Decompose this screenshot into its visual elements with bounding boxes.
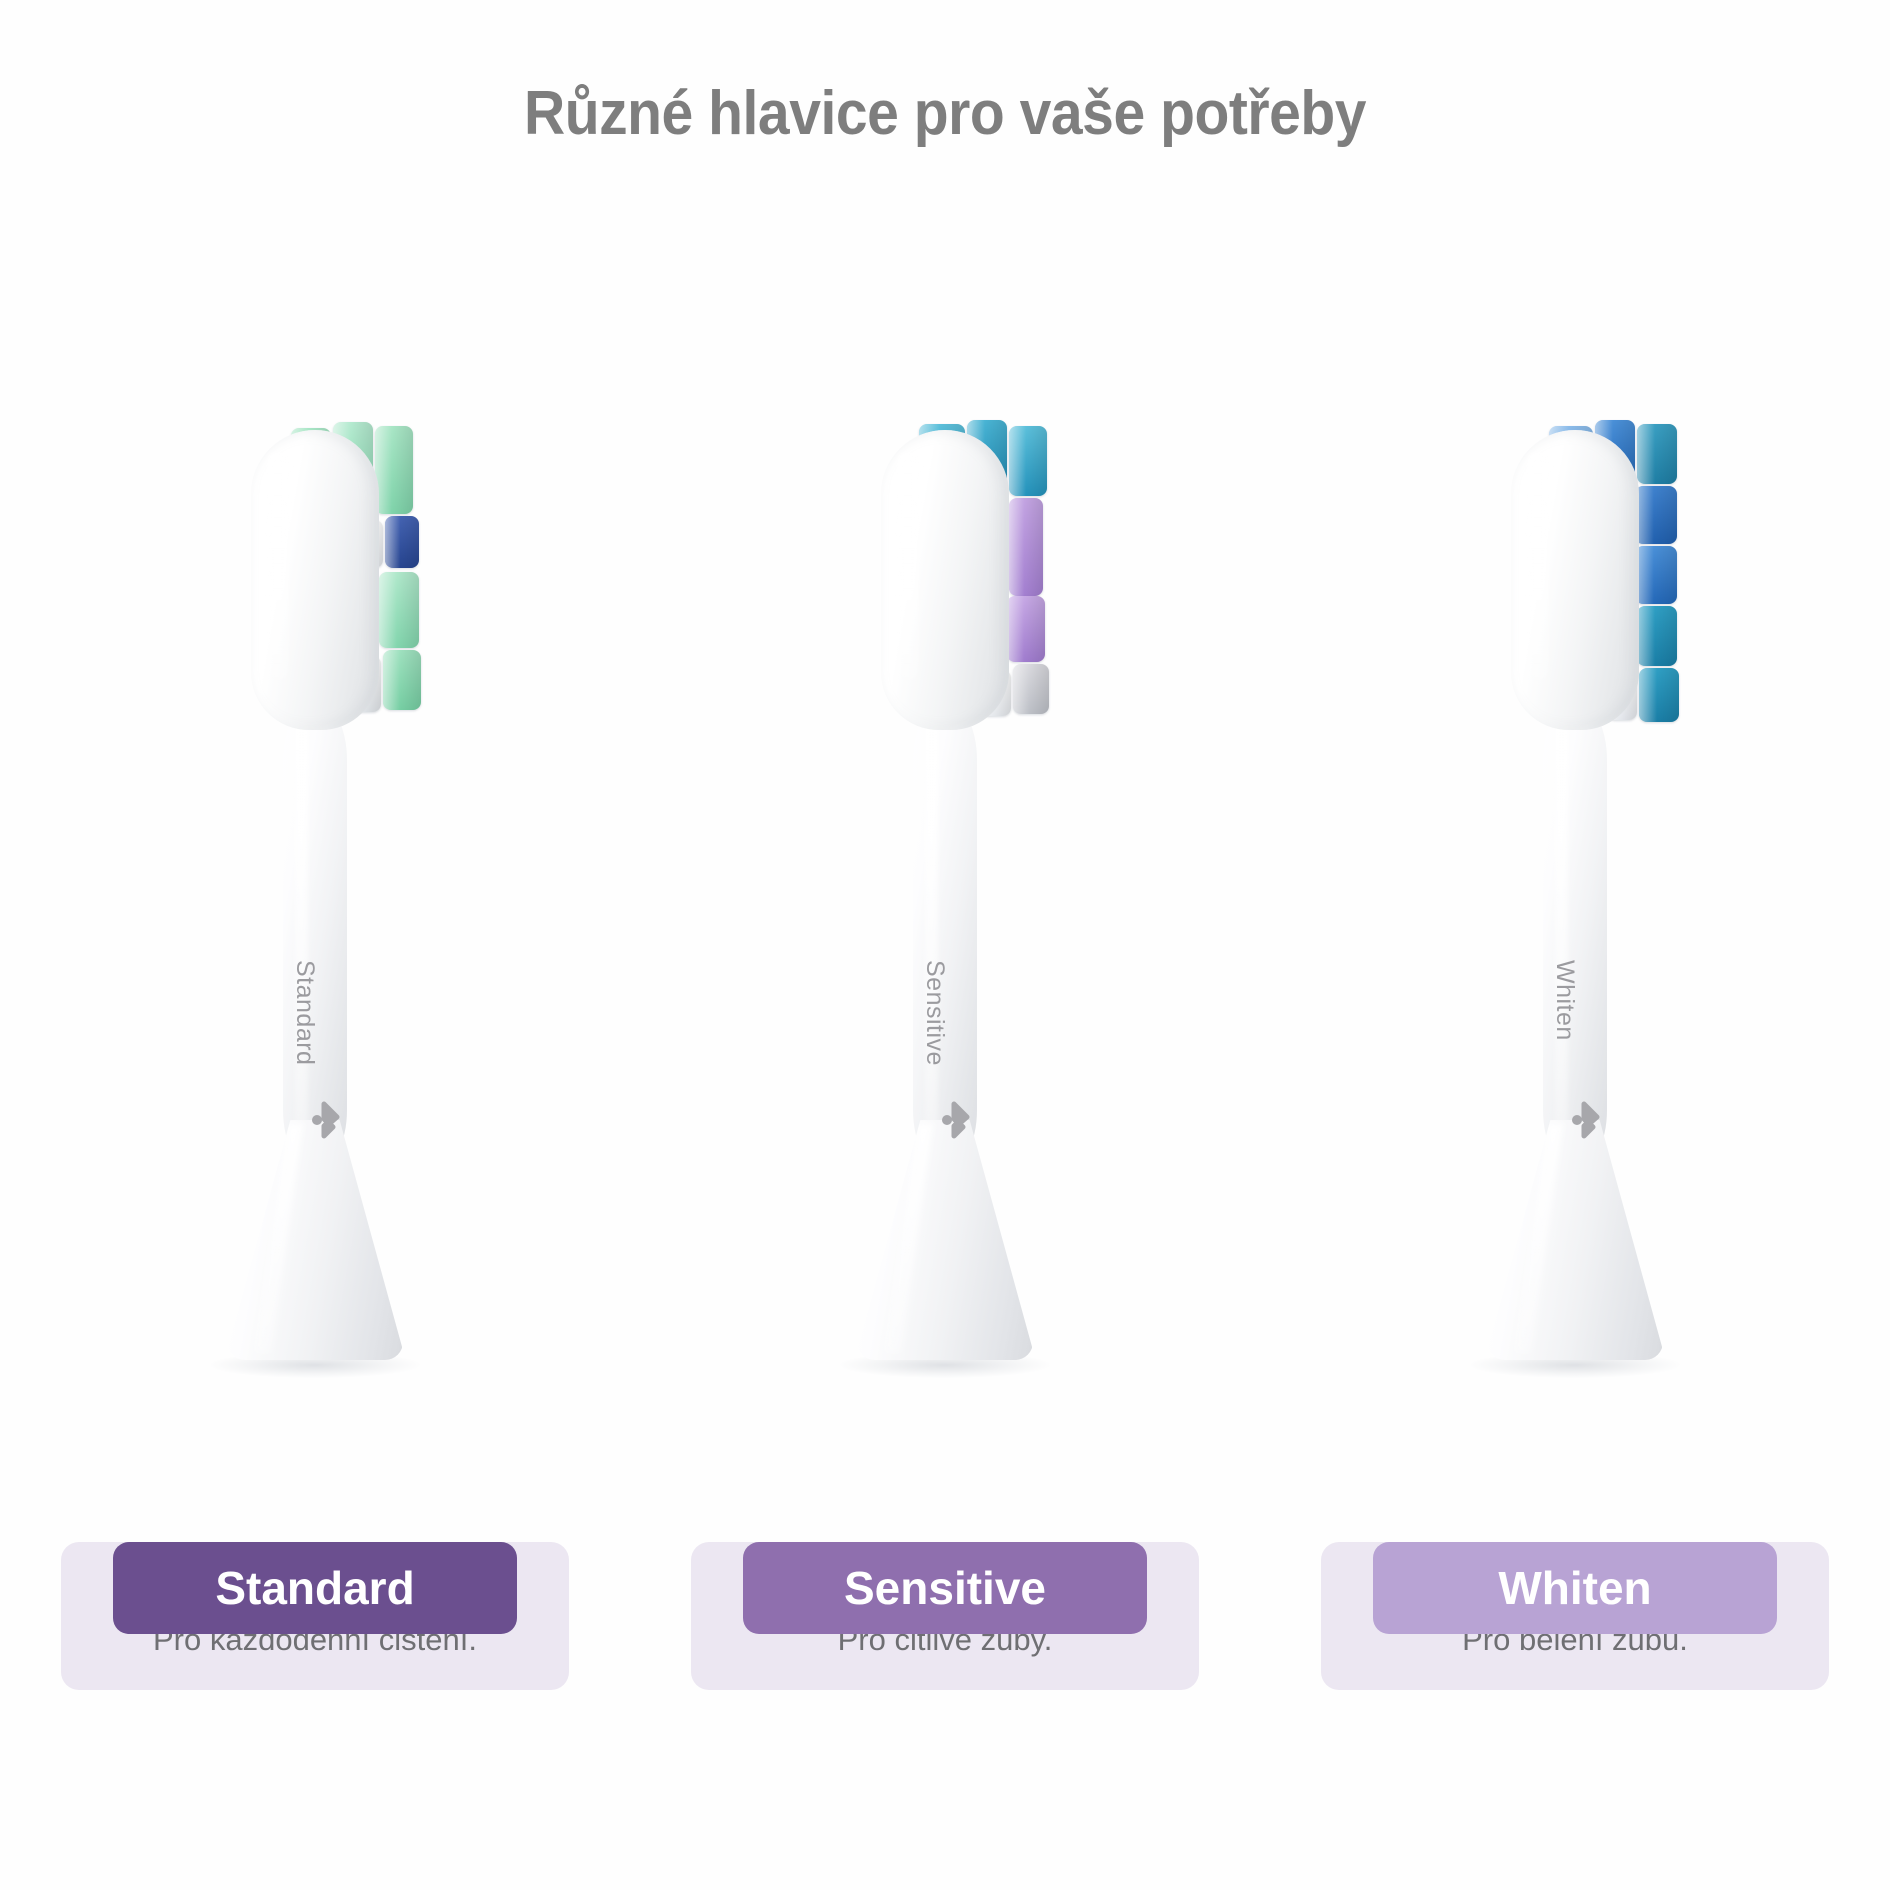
brush-head-shell	[881, 430, 1009, 730]
chevron-dot-logo-icon	[311, 1100, 345, 1145]
bristle-tuft	[1635, 546, 1677, 604]
brush-base	[857, 1120, 1033, 1360]
label-card-row: Standard Pro každodenní čištění. Sensiti…	[0, 1498, 1890, 1690]
brush-base	[1487, 1120, 1663, 1360]
card-standard[interactable]: Standard Pro každodenní čištění.	[61, 1498, 569, 1690]
badge-standard[interactable]: Standard	[113, 1542, 517, 1634]
handle-label-sensitive: Sensitive	[920, 960, 949, 1066]
handle-label-whiten: Whiten	[1550, 960, 1579, 1041]
bristle-tuft	[1009, 498, 1043, 596]
infographic-root: Různé hlavice pro vaše potřeby	[0, 0, 1890, 1890]
brush-base	[227, 1120, 403, 1360]
bristle-tuft	[385, 516, 419, 568]
bristle-tuft	[1635, 486, 1677, 544]
bristle-tuft	[1009, 426, 1047, 496]
product-sensitive: Sensitive	[735, 400, 1155, 1420]
bristle-tuft	[1639, 668, 1679, 722]
brush-head-shell	[1511, 430, 1639, 730]
chevron-dot-logo-icon	[1571, 1100, 1605, 1145]
bristle-tuft	[379, 572, 419, 648]
bristle-tuft	[375, 426, 413, 514]
bristle-tuft	[1637, 424, 1677, 484]
bristle-tuft	[383, 650, 421, 710]
product-row: Standard	[0, 400, 1890, 1450]
bristle-tuft	[1637, 606, 1677, 666]
handle-label-standard: Standard	[290, 960, 319, 1065]
bristle-tuft	[1007, 596, 1045, 662]
card-body: Whiten Pro bělení zubů.	[1321, 1542, 1829, 1690]
bristle-tuft	[1013, 664, 1049, 714]
page-title: Různé hlavice pro vaše potřeby	[76, 78, 1815, 149]
brush-head-shell	[251, 430, 379, 730]
card-body: Sensitive Pro citlivé zuby.	[691, 1542, 1199, 1690]
chevron-dot-logo-icon	[941, 1100, 975, 1145]
badge-whiten[interactable]: Whiten	[1373, 1542, 1777, 1634]
card-body: Standard Pro každodenní čištění.	[61, 1542, 569, 1690]
product-whiten: Whiten	[1365, 400, 1785, 1420]
card-whiten[interactable]: Whiten Pro bělení zubů.	[1321, 1498, 1829, 1690]
badge-sensitive[interactable]: Sensitive	[743, 1542, 1147, 1634]
card-sensitive[interactable]: Sensitive Pro citlivé zuby.	[691, 1498, 1199, 1690]
product-standard: Standard	[105, 400, 525, 1420]
